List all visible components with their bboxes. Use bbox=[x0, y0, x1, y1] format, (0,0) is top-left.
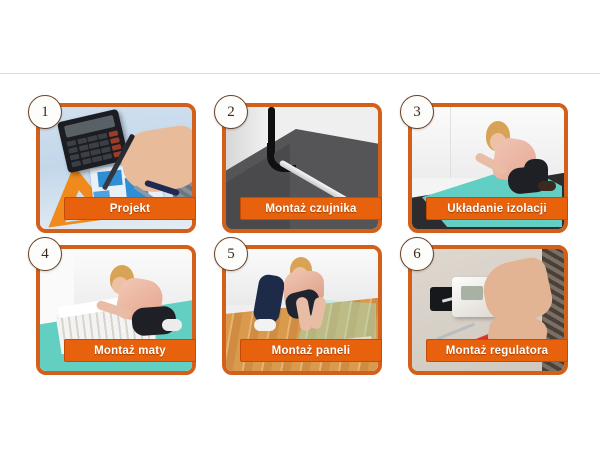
header-divider bbox=[0, 73, 600, 74]
step-card-3[interactable]: 3 Układanie izolacji bbox=[408, 103, 568, 233]
installation-steps-infographic: 1 Projekt 2 Montaż czujnika bbox=[0, 0, 600, 450]
step-card-4[interactable]: 4 Montaż maty bbox=[36, 245, 196, 375]
step-number-badge: 5 bbox=[214, 237, 248, 271]
step-number-badge: 2 bbox=[214, 95, 248, 129]
step-card-6[interactable]: 6 Montaż regulatora bbox=[408, 245, 568, 375]
step-card-2[interactable]: 2 Montaż czujnika bbox=[222, 103, 382, 233]
shoe bbox=[254, 319, 276, 331]
shoe bbox=[538, 181, 556, 191]
step-caption: Projekt bbox=[64, 197, 196, 220]
step-caption: Montaż regulatora bbox=[426, 339, 568, 362]
thermostat-display bbox=[461, 286, 483, 300]
step-caption: Montaż czujnika bbox=[240, 197, 382, 220]
step-number-badge: 6 bbox=[400, 237, 434, 271]
step-caption: Montaż paneli bbox=[240, 339, 382, 362]
step-card-5[interactable]: 5 Montaż paneli bbox=[222, 245, 382, 375]
step-caption: Montaż maty bbox=[64, 339, 196, 362]
step-number-badge: 1 bbox=[28, 95, 62, 129]
wall-corner-line bbox=[450, 107, 451, 178]
shoe bbox=[162, 319, 182, 331]
step-number-badge: 4 bbox=[28, 237, 62, 271]
screwdriver-shaft bbox=[437, 323, 475, 341]
step-card-1[interactable]: 1 Projekt bbox=[36, 103, 196, 233]
steps-grid: 1 Projekt 2 Montaż czujnika bbox=[36, 103, 568, 375]
step-caption: Układanie izolacji bbox=[426, 197, 568, 220]
step-number-badge: 3 bbox=[400, 95, 434, 129]
